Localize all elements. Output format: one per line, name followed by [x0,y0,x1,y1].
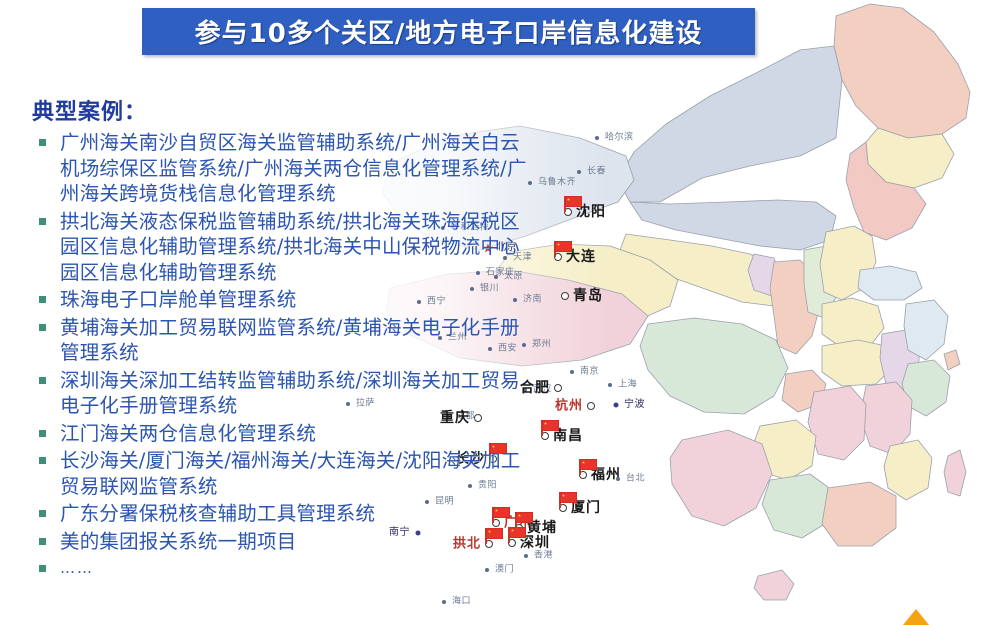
red-flag-icon-沈阳 [564,196,583,212]
case-item: 珠海电子口岸舱单管理系统 [30,287,530,313]
case-item-label: 黄埔海关加工贸易联网监管系统/黄埔海关电子化手册管理系统 [60,316,520,365]
case-item: 广东分署保税核查辅助工具管理系统 [30,501,530,527]
case-item: 长沙海关/厦门海关/福州海关/大连海关/沈阳海关加工贸易联网监管系统 [30,448,530,499]
city-ring-icon [554,384,562,392]
city-ring-icon [587,402,595,410]
case-item-label: 美的集团报关系统一期项目 [60,530,296,553]
case-item: 广州海关南沙自贸区海关监管辅助系统/广州海关白云机场综保区监管系统/广州海关两仓… [30,130,530,207]
case-item: …… [30,556,530,582]
map-city-label: 杭州 [555,400,583,413]
map-city-label: 南京 [580,368,599,377]
title-banner: 参与10多个关区/地方电子口岸信息化建设 [142,8,755,55]
red-flag-icon-厦门 [559,492,578,508]
bullet-square-icon [39,510,46,517]
map-city-label: 长春 [587,168,606,177]
bullet-square-icon [39,296,46,303]
case-item: 黄埔海关加工贸易联网监管系统/黄埔海关电子化手册管理系统 [30,315,530,366]
bullet-square-icon [39,565,46,572]
city-dot-icon [595,136,599,140]
city-dot-icon [442,600,446,604]
case-item-label: 广东分署保税核查辅助工具管理系统 [60,502,375,525]
case-item: 深圳海关深加工结转监管辅助系统/深圳海关加工贸易电子化手册管理系统 [30,368,530,419]
red-flag-icon-福州 [579,459,598,475]
slide-canvas: 哈尔滨长春沈阳大连★北京天津石家庄济南青岛呼和浩特乌鲁木齐银川太原西宁兰州西安郑… [0,0,1006,625]
bullet-square-icon [39,430,46,437]
map-city-label: 上海 [618,381,637,390]
map-city-label: 哈尔滨 [605,134,634,143]
page-title: 参与10多个关区/地方电子口岸信息化建设 [195,13,703,50]
case-heading: 典型案例： [32,94,530,126]
city-dot-icon [608,383,612,387]
map-city-label: 乌鲁木齐 [538,179,576,188]
case-item: 美的集团报关系统一期项目 [30,529,530,555]
city-dot-icon [616,477,620,481]
bullet-square-icon [39,218,46,225]
case-item: 拱北海关液态保税监管辅助系统/拱北海关珠海保税区园区信息化辅助管理系统/拱北海关… [30,209,530,286]
city-dot-icon [570,370,574,374]
map-city-label: 郑州 [532,341,551,350]
bullet-square-icon [39,377,46,384]
bullet-square-icon [39,139,46,146]
case-item-label: 珠海电子口岸舱单管理系统 [60,288,296,311]
map-city-label: 香港 [534,552,553,561]
case-item-label: 拱北海关液态保税监管辅助系统/拱北海关珠海保税区园区信息化辅助管理系统/拱北海关… [60,210,520,284]
orange-triangle-icon [890,609,942,625]
red-flag-icon-南昌 [541,420,560,436]
case-list-panel: 典型案例： 广州海关南沙自贸区海关监管辅助系统/广州海关白云机场综保区监管系统/… [30,94,530,584]
case-item-label: 深圳海关深加工结转监管辅助系统/深圳海关加工贸易电子化手册管理系统 [60,369,520,418]
city-dot-icon [577,170,581,174]
case-item-label: 广州海关南沙自贸区海关监管辅助系统/广州海关白云机场综保区监管系统/广州海关两仓… [60,131,527,205]
city-dot-icon [614,403,619,408]
map-city-label: 海口 [452,598,471,607]
city-ring-icon [561,292,569,300]
case-item-label: 长沙海关/厦门海关/福州海关/大连海关/沈阳海关加工贸易联网监管系统 [60,449,520,498]
case-item: 江门海关两仓信息化管理系统 [30,421,530,447]
map-city-label: 宁波 [624,400,645,410]
map-city-label: 台北 [626,475,645,484]
bullet-square-icon [39,324,46,331]
case-list: 广州海关南沙自贸区海关监管辅助系统/广州海关白云机场综保区监管系统/广州海关两仓… [30,130,530,582]
case-item-label: …… [60,559,94,577]
bullet-square-icon [39,457,46,464]
case-item-label: 江门海关两仓信息化管理系统 [60,422,316,445]
red-flag-icon-大连 [554,241,573,257]
map-city-label: 青岛 [573,289,603,303]
bullet-square-icon [39,538,46,545]
